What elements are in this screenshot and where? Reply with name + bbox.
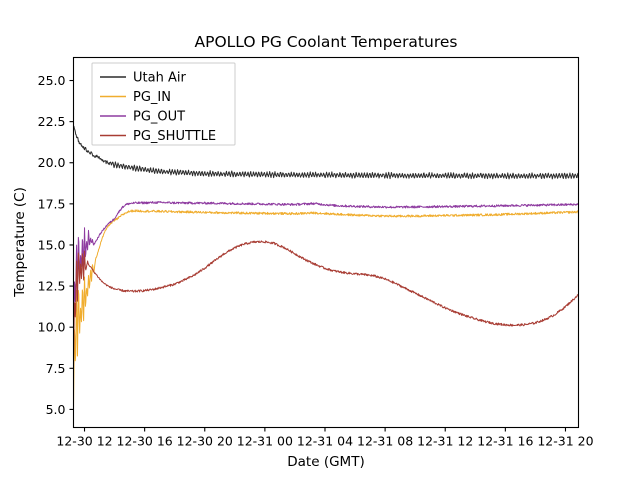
legend-label-pg-in: PG_IN xyxy=(133,90,171,105)
y-tick-label: 5.0 xyxy=(46,402,66,417)
x-tick-label: 12-31 00 xyxy=(237,434,293,449)
y-tick-label: 22.5 xyxy=(38,114,66,129)
y-tick-label: 17.5 xyxy=(38,196,66,211)
chart-legend: Utah AirPG_INPG_OUTPG_SHUTTLE xyxy=(92,63,235,145)
x-tick-label: 12-30 12 xyxy=(56,434,112,449)
x-tick-label: 12-30 20 xyxy=(177,434,233,449)
x-tick-label: 12-31 20 xyxy=(537,434,593,449)
figure-canvas: APOLLO PG Coolant Temperatures 5.07.510.… xyxy=(0,0,640,480)
legend-label-pg-out: PG_OUT xyxy=(133,110,185,125)
y-tick-label: 7.5 xyxy=(46,361,66,376)
x-axis-title: Date (GMT) xyxy=(287,454,364,470)
y-tick-label: 20.0 xyxy=(38,155,66,170)
chart-svg: APOLLO PG Coolant Temperatures 5.07.510.… xyxy=(0,0,640,480)
y-axis-title: Temperature (C) xyxy=(12,187,28,298)
x-tick-label: 12-31 12 xyxy=(417,434,473,449)
chart-title: APOLLO PG Coolant Temperatures xyxy=(195,33,458,51)
y-tick-label: 15.0 xyxy=(38,237,66,252)
legend-label-utah-air: Utah Air xyxy=(133,71,186,86)
legend-label-pg-shuttle: PG_SHUTTLE xyxy=(133,129,216,144)
x-tick-label: 12-30 16 xyxy=(117,434,173,449)
x-tick-label: 12-31 16 xyxy=(477,434,533,449)
x-tick-label: 12-31 04 xyxy=(297,434,353,449)
x-tick-label: 12-31 08 xyxy=(357,434,413,449)
y-tick-label: 25.0 xyxy=(38,73,66,88)
y-tick-label: 10.0 xyxy=(38,320,66,335)
y-tick-label: 12.5 xyxy=(38,279,66,294)
